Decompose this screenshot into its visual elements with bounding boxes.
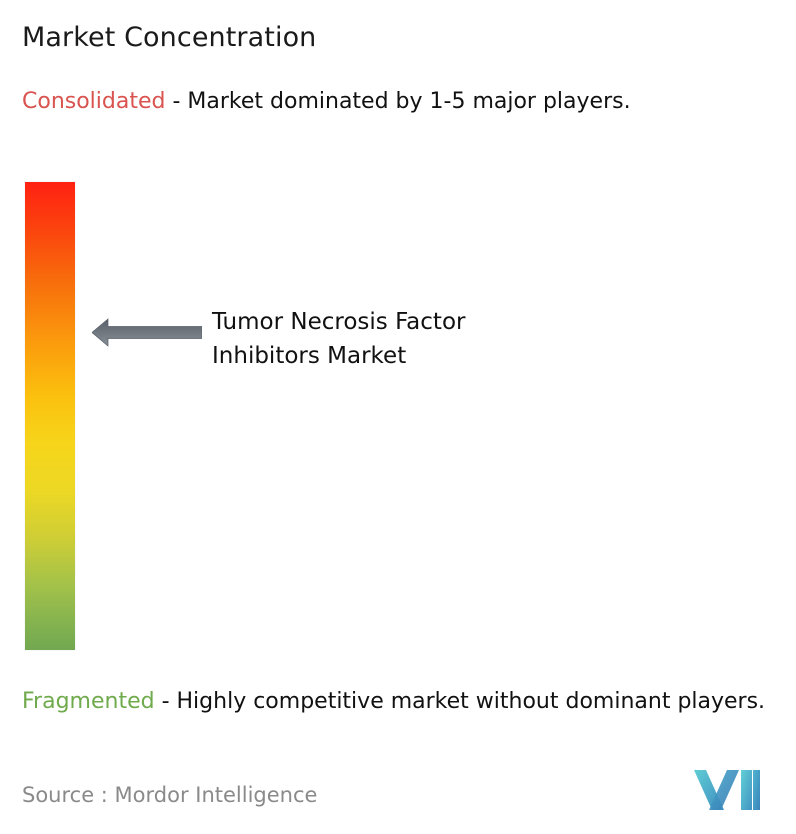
market-marker-label: Tumor Necrosis Factor Inhibitors Market xyxy=(212,305,465,373)
legend-consolidated-description: - Market dominated by 1-5 major players. xyxy=(165,89,630,114)
legend-fragmented-description: - Highly competitive market without domi… xyxy=(155,689,765,714)
legend-consolidated-term: Consolidated xyxy=(22,89,165,114)
concentration-scale-bar xyxy=(25,182,75,650)
legend-consolidated: Consolidated - Market dominated by 1-5 m… xyxy=(22,86,784,117)
mordor-intelligence-logo xyxy=(694,768,760,812)
source-attribution: Source : Mordor Intelligence xyxy=(22,781,317,809)
page-title: Market Concentration xyxy=(22,20,316,56)
legend-fragmented-term: Fragmented xyxy=(22,689,155,714)
legend-fragmented: Fragmented - Highly competitive market w… xyxy=(22,686,784,717)
left-arrow-icon xyxy=(92,316,202,349)
